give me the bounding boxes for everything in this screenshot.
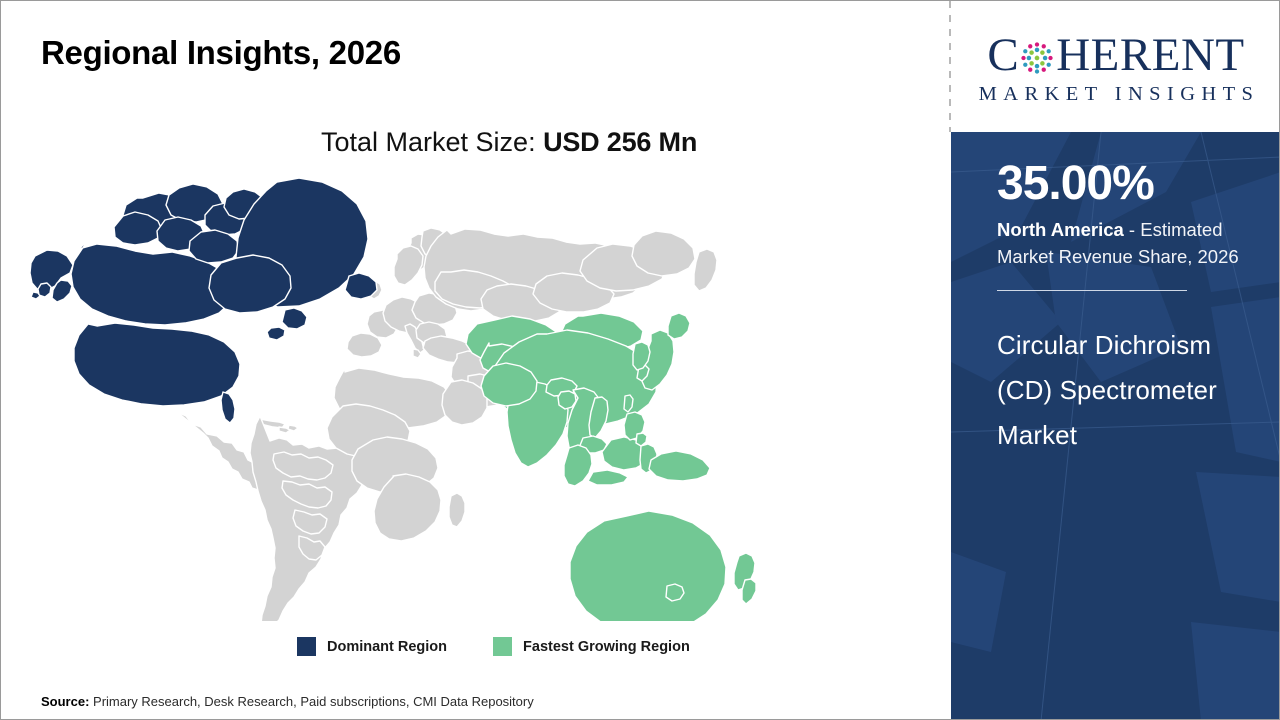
infographic-slide: Regional Insights, 2026 Total Market Siz… [0,0,1280,720]
total-market-size: Total Market Size: USD 256 Mn [321,127,697,158]
map-region-north-america [30,178,377,423]
market-size-value: USD 256 Mn [543,127,697,157]
market-size-label: Total Market Size: [321,127,543,157]
logo-letter-c: C [987,32,1019,79]
page-title: Regional Insights, 2026 [41,34,401,72]
legend-item-fastest-growing: Fastest Growing Region [493,637,690,656]
map-panel: Regional Insights, 2026 Total Market Siz… [1,1,949,719]
globe-dots-icon [1019,40,1055,76]
logo-tagline: MARKET INSIGHTS [973,83,1260,106]
company-logo: C [951,1,1280,132]
map-legend: Dominant Region Fastest Growing Region [297,637,690,656]
world-map [27,176,837,621]
legend-swatch-green-icon [493,637,512,656]
source-footer: Source: Primary Research, Desk Research,… [41,694,534,709]
legend-label-dominant: Dominant Region [327,639,447,655]
source-label: Source: [41,694,89,709]
stat-region-name: North America [997,219,1124,240]
market-title: Circular Dichroism (CD) Spectrometer Mar… [997,323,1259,457]
stat-percentage: 35.00% [997,159,1259,209]
logo-wordmark: C [987,32,1244,79]
stat-panel: 35.00% North America - Estimated Market … [951,132,1280,720]
stat-divider-line [997,290,1187,292]
legend-label-fastest-growing: Fastest Growing Region [523,639,690,655]
map-region-asia-pacific [466,313,756,621]
legend-item-dominant: Dominant Region [297,637,447,656]
legend-swatch-navy-icon [297,637,316,656]
logo-letters-herent: HERENT [1056,32,1244,79]
stat-description: North America - Estimated Market Revenue… [997,217,1259,270]
stat-content: 35.00% North America - Estimated Market … [997,159,1259,458]
source-text: Primary Research, Desk Research, Paid su… [89,694,533,709]
